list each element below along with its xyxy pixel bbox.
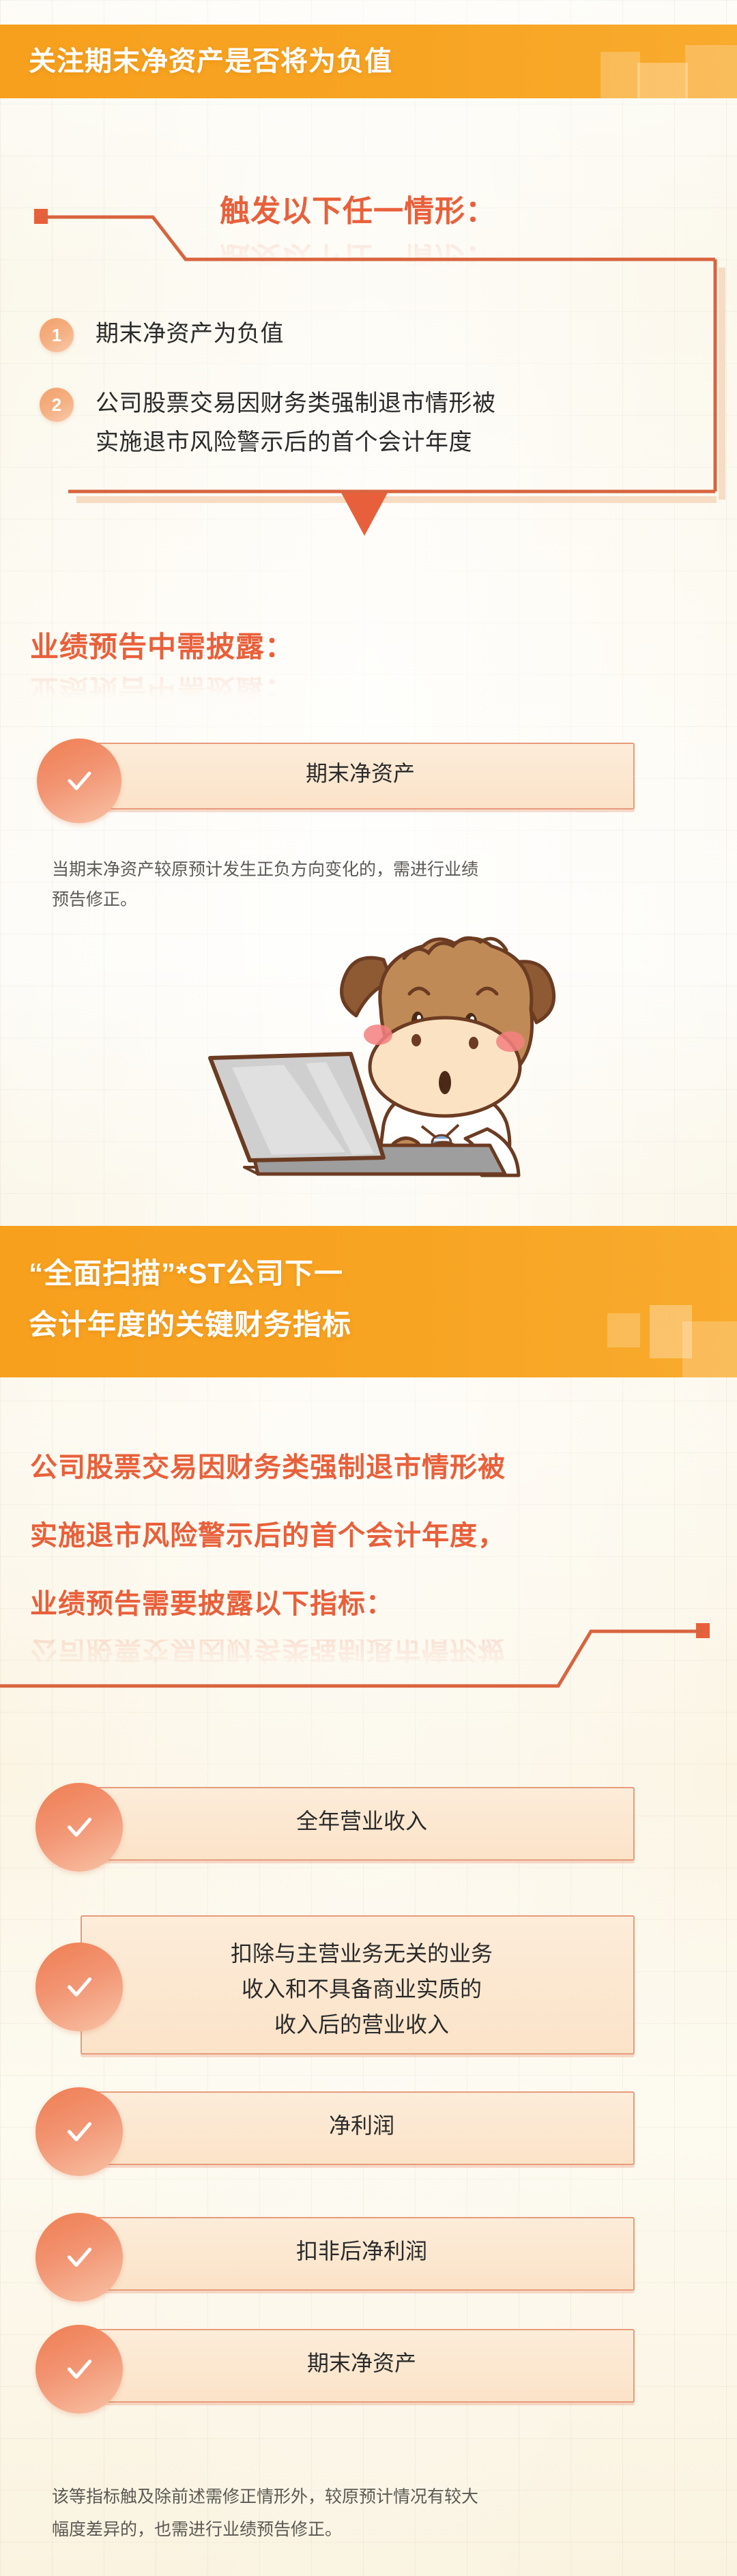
section-one-title: 关注期末净资产是否将为负值 <box>29 42 737 81</box>
list-item-text: 公司股票交易因财务类强制退市情形被 实施退市风险警示后的首个会计年度 <box>96 384 703 462</box>
list-item-number: 1 <box>40 318 74 352</box>
pill-label: 扣非后净利润 <box>123 2235 601 2267</box>
infographic-page: 关注期末净资产是否将为负值 触发以下任一情形： 触发以下任一情形： 1 期末净资… <box>0 0 737 2576</box>
check-icon <box>35 2213 123 2302</box>
section-two-intro: 公司股票交易因财务类强制退市情形被 实施退市风险警示后的首个会计年度， 业绩预告… <box>30 1433 712 1638</box>
section-one-disclose-heading-reflection: 业绩预告中需披露： <box>30 669 294 710</box>
section-two-intro-reflection: 公司股票交易因财务类强制退市情形被 实施退市风险警示后的首个会计年度， 业绩预告… <box>30 1640 712 1683</box>
list-item-number: 2 <box>40 388 74 422</box>
check-icon <box>35 2087 123 2176</box>
section-two-note: 该等指标触及除前述需修正情形外，较原预计情况有较大 幅度差异的，也需进行业绩预告… <box>52 2480 693 2546</box>
list-item-text: 期末净资产为负值 <box>96 315 696 354</box>
pill-label: 全年营业收入 <box>123 1805 601 1837</box>
pill-label: 期末净资产 <box>123 2347 601 2379</box>
pill-row: 扣除与主营业务无关的业务 收入和不具备商业实质的 收入后的营业收入 <box>0 1911 737 2061</box>
check-icon <box>37 739 121 823</box>
pill-row: 净利润 <box>0 2087 737 2173</box>
disclose-pill-row: 期末净资产 <box>0 739 737 820</box>
section-one-note: 当期末净资产较原预计发生正负方向变化的，需进行业绩 预告修正。 <box>52 855 687 915</box>
section-one-bracket-heading: 触发以下任一情形： <box>220 190 496 233</box>
check-icon <box>35 2325 123 2414</box>
check-icon <box>35 1943 123 2031</box>
section-two-band: “全面扫描”*ST公司下一 会计年度的关键财务指标 <box>0 1226 737 1377</box>
pill-row: 期末净资产 <box>0 2325 737 2411</box>
section-one-disclose-heading: 业绩预告中需披露： <box>30 627 294 668</box>
section-two-title: “全面扫描”*ST公司下一 会计年度的关键财务指标 <box>29 1248 737 1350</box>
ox-with-laptop-illustration <box>179 920 558 1193</box>
check-icon <box>35 1783 123 1872</box>
section-one-band: 关注期末净资产是否将为负值 <box>0 25 737 98</box>
pill-label: 期末净资产 <box>121 758 599 788</box>
pill-label: 扣除与主营业务无关的业务 收入和不具备商业实质的 收入后的营业收入 <box>123 1936 601 2042</box>
pill-label: 净利润 <box>123 2110 601 2141</box>
pill-row: 全年营业收入 <box>0 1783 737 1869</box>
pill-row: 扣非后净利润 <box>0 2213 737 2299</box>
section-one-bracket-heading-reflection: 触发以下任一情形： <box>220 235 496 278</box>
